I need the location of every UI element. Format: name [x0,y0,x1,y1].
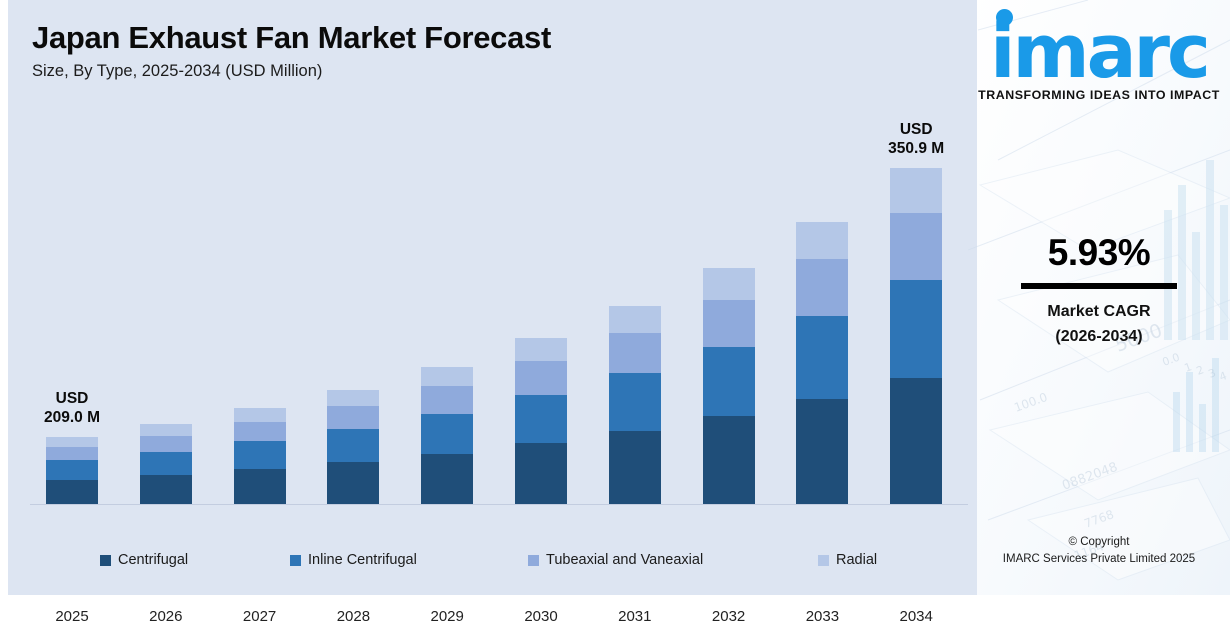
x-axis-tick-2033: 2033 [787,608,857,625]
infographic-root: Japan Exhaust Fan Market Forecast Size, … [0,0,1230,595]
bar-2034[interactable] [890,168,942,504]
bar-2025[interactable] [46,437,98,504]
bar-segment-radial [703,268,755,300]
copyright-line-2: IMARC Services Private Limited 2025 [968,551,1230,568]
bar-segment-tubeaxial-and-vaneaxial [796,259,848,316]
legend-item-inline-centrifugal[interactable]: Inline Centrifugal [290,552,417,568]
legend-label: Radial [836,552,877,568]
bar-2027[interactable] [234,408,286,504]
chart-legend: CentrifugalInline CentrifugalTubeaxial a… [0,552,968,580]
x-axis-tick-2029: 2029 [412,608,482,625]
bar-2029[interactable] [421,367,473,504]
cagr-block: 5.93% Market CAGR (2026-2034) [968,232,1230,350]
bar-segment-inline-centrifugal [890,280,942,378]
x-axis-tick-2026: 2026 [131,608,201,625]
chart-panel: Japan Exhaust Fan Market Forecast Size, … [0,0,968,595]
x-axis-labels: 2025202620272028202920302031203220332034 [30,608,968,634]
bar-segment-tubeaxial-and-vaneaxial [609,333,661,373]
copyright-notice: © Copyright IMARC Services Private Limit… [968,534,1230,569]
bar-segment-centrifugal [140,475,192,504]
bar-segment-radial [796,222,848,260]
bar-segment-centrifugal [703,416,755,504]
bar-segment-tubeaxial-and-vaneaxial [46,447,98,460]
bar-segment-inline-centrifugal [609,373,661,431]
bar-segment-centrifugal [796,399,848,504]
bar-segment-tubeaxial-and-vaneaxial [234,422,286,441]
bar-segment-inline-centrifugal [796,316,848,398]
copyright-line-1: © Copyright [968,534,1230,551]
logo-dot-icon [996,9,1013,26]
bar-segment-radial [234,408,286,422]
x-axis-tick-2027: 2027 [225,608,295,625]
legend-item-radial[interactable]: Radial [818,552,877,568]
x-axis-tick-2031: 2031 [600,608,670,625]
bar-segment-radial [46,437,98,447]
x-axis-line [30,504,968,505]
bar-2026[interactable] [140,424,192,504]
bar-segment-radial [140,424,192,435]
bar-segment-inline-centrifugal [421,414,473,454]
x-axis-tick-2030: 2030 [506,608,576,625]
bar-segment-radial [515,338,567,361]
bar-2033[interactable] [796,222,848,504]
legend-swatch-icon [528,555,539,566]
brand-panel-content: imarc TRANSFORMING IDEAS INTO IMPACT 5.9… [968,0,1230,595]
plot-area: USD 209.0 M USD 350.9 M 2025202620272028… [8,100,968,505]
cagr-divider [1021,283,1177,289]
bar-segment-centrifugal [234,469,286,504]
bar-segment-centrifugal [327,462,379,504]
legend-item-centrifugal[interactable]: Centrifugal [100,552,188,568]
legend-label: Centrifugal [118,552,188,568]
legend-label: Inline Centrifugal [308,552,417,568]
bar-segment-tubeaxial-and-vaneaxial [703,300,755,347]
bar-segment-inline-centrifugal [46,460,98,480]
cagr-value: 5.93% [968,232,1230,274]
page-subtitle: Size, By Type, 2025-2034 (USD Million) [32,62,551,82]
bar-segment-tubeaxial-and-vaneaxial [421,386,473,414]
bar-2030[interactable] [515,338,567,504]
bar-segment-centrifugal [46,480,98,504]
bar-2028[interactable] [327,390,379,504]
bar-segment-tubeaxial-and-vaneaxial [515,361,567,394]
x-axis-tick-2034: 2034 [881,608,951,625]
bar-segment-tubeaxial-and-vaneaxial [890,213,942,280]
logo-text: imarc [990,9,1208,95]
bar-segment-centrifugal [890,378,942,504]
x-axis-tick-2032: 2032 [694,608,764,625]
x-axis-tick-2028: 2028 [318,608,388,625]
brand-panel: 0.0 1 2 3 4 5000 0882048 7768 1164 100.0… [968,0,1230,595]
bar-segment-inline-centrifugal [140,452,192,475]
legend-swatch-icon [818,555,829,566]
bar-segment-inline-centrifugal [327,429,379,462]
bar-2032[interactable] [703,268,755,504]
bar-segment-tubeaxial-and-vaneaxial [327,406,379,429]
legend-label: Tubeaxial and Vaneaxial [546,552,703,568]
imarc-logo: imarc TRANSFORMING IDEAS INTO IMPACT [968,18,1230,102]
legend-item-tubeaxial-and-vaneaxial[interactable]: Tubeaxial and Vaneaxial [528,552,703,568]
bar-segment-inline-centrifugal [515,395,567,443]
cagr-label: Market CAGR [968,300,1230,325]
bar-segment-centrifugal [421,454,473,504]
bar-segment-tubeaxial-and-vaneaxial [140,436,192,452]
bar-segment-radial [421,367,473,386]
cagr-period: (2026-2034) [968,325,1230,350]
legend-swatch-icon [290,555,301,566]
bar-2031[interactable] [609,306,661,504]
bar-segment-radial [327,390,379,406]
bar-group [30,100,968,505]
logo-wordmark: imarc [990,18,1208,86]
legend-swatch-icon [100,555,111,566]
page-title: Japan Exhaust Fan Market Forecast [32,20,551,56]
bar-segment-centrifugal [609,431,661,504]
x-axis-tick-2025: 2025 [37,608,107,625]
bar-segment-radial [609,306,661,333]
bar-segment-centrifugal [515,443,567,504]
bar-segment-inline-centrifugal [234,441,286,469]
chart-header: Japan Exhaust Fan Market Forecast Size, … [32,20,551,81]
bar-segment-inline-centrifugal [703,347,755,416]
bar-segment-radial [890,168,942,213]
